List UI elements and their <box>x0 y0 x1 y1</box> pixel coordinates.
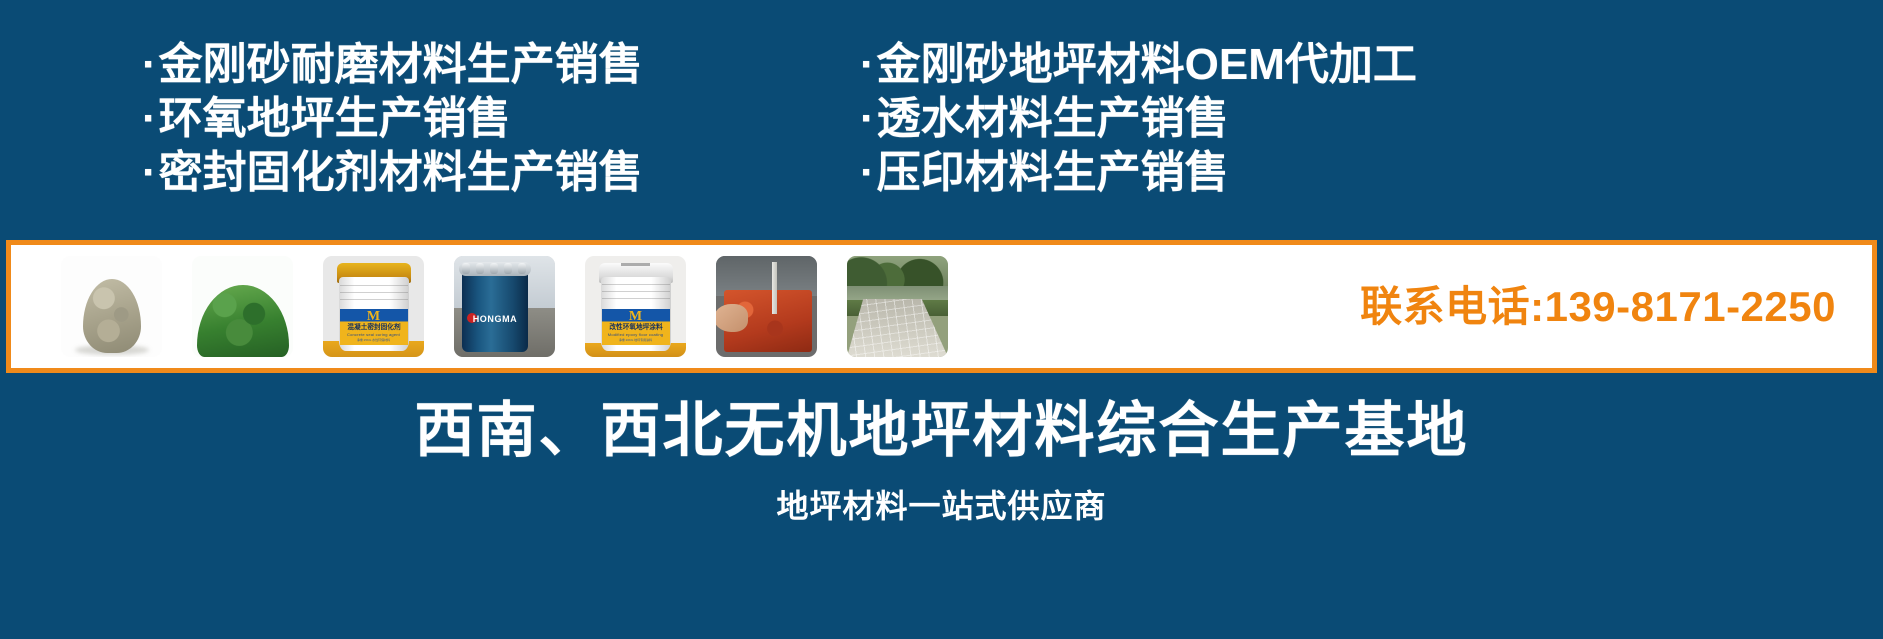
bucket-icon: M 混凝土密封固化剂 Concrete seal curing agent 净重… <box>339 263 409 351</box>
drum-clamp <box>476 263 484 274</box>
feature-item-right-3: · 压印材料生产销售 <box>860 146 1417 200</box>
product-thumb-hongma-blue-drum: HONGMA <box>454 256 555 357</box>
bucket-rib <box>602 284 670 285</box>
bottom-headline-block: 西南、西北无机地坪材料综合生产基地 地坪材料一站式供应商 <box>0 373 1883 639</box>
feature-item-left-2: · 环氧地坪生产销售 <box>142 92 842 146</box>
feature-item-right-1: · 金刚砂地坪材料OEM代加工 <box>860 38 1417 92</box>
bullet-icon: · <box>860 92 875 146</box>
bullet-icon: · <box>142 38 157 92</box>
feature-label: 密封固化剂材料生产销售 <box>159 146 643 200</box>
contact-phone-text: 联系电话:139-8171-2250 <box>1360 284 1836 330</box>
brand-mark-m: M <box>367 310 380 324</box>
bucket-label: M 改性环氧地坪涂料 Modified epoxy floor coating … <box>602 309 670 345</box>
bucket-icon: M 改性环氧地坪涂料 Modified epoxy floor coating … <box>601 263 671 351</box>
bucket-label-fine: 净重 20KG 地坪专用涂料 <box>602 338 670 342</box>
bullet-icon: · <box>860 38 875 92</box>
product-thumb-green-abrasive-powder <box>192 256 293 357</box>
feature-label: 透水材料生产销售 <box>877 92 1229 146</box>
feature-item-right-2: · 透水材料生产销售 <box>860 92 1417 146</box>
product-strip: M 混凝土密封固化剂 Concrete seal curing agent 净重… <box>6 240 1877 373</box>
product-thumb-sealer-bucket: M 混凝土密封固化剂 Concrete seal curing agent 净重… <box>323 256 424 357</box>
bullet-icon: · <box>142 92 157 146</box>
product-thumbnail-row: M 混凝土密封固化剂 Concrete seal curing agent 净重… <box>61 245 978 368</box>
feature-label: 环氧地坪生产销售 <box>159 92 511 146</box>
bucket-rib <box>340 299 408 300</box>
bucket-body: M 改性环氧地坪涂料 Modified epoxy floor coating … <box>601 277 671 351</box>
drum-clamp <box>518 263 526 274</box>
feature-label: 金刚砂耐磨材料生产销售 <box>159 38 643 92</box>
bucket-body: M 混凝土密封固化剂 Concrete seal curing agent 净重… <box>339 277 409 351</box>
bucket-label-en: Concrete seal curing agent <box>340 332 408 337</box>
grey-powder-pile-icon <box>83 279 141 353</box>
blue-drum-icon: HONGMA <box>462 270 528 352</box>
bullet-icon: · <box>860 146 875 200</box>
bucket-rib <box>602 298 670 299</box>
bucket-label-fine: 净重 25KG 水性环保材料 <box>340 338 408 342</box>
feature-label: 压印材料生产销售 <box>877 146 1229 200</box>
feature-item-left-1: · 金刚砂耐磨材料生产销售 <box>142 38 842 92</box>
bullet-icon: · <box>142 146 157 200</box>
drum-clamp <box>504 263 512 274</box>
applicator-tool-icon <box>772 262 777 314</box>
product-thumb-red-stamped-concrete <box>716 256 817 357</box>
main-headline: 西南、西北无机地坪材料综合生产基地 <box>415 395 1469 467</box>
brand-mark-m: M <box>629 310 642 324</box>
contact-phone[interactable]: 联系电话:139-8171-2250 <box>1360 284 1836 330</box>
green-powder-pile-icon <box>197 285 289 357</box>
bucket-label-cn: 改性环氧地坪涂料 <box>603 324 668 332</box>
bucket-rib <box>602 291 670 292</box>
product-thumb-grey-abrasive-powder <box>61 256 162 357</box>
feature-item-left-3: · 密封固化剂材料生产销售 <box>142 146 842 200</box>
feature-label: 金刚砂地坪材料OEM代加工 <box>877 38 1417 92</box>
feature-column-right: · 金刚砂地坪材料OEM代加工 · 透水材料生产销售 · 压印材料生产销售 <box>860 0 1417 200</box>
product-thumb-permeable-paver-walkway <box>847 256 948 357</box>
product-thumb-epoxy-coating-bucket: M 改性环氧地坪涂料 Modified epoxy floor coating … <box>585 256 686 357</box>
bucket-handle <box>621 263 651 266</box>
drum-clamp <box>490 263 498 274</box>
drum-clamp <box>462 263 470 274</box>
hongma-brand-text: HONGMA <box>462 314 528 324</box>
trees-background <box>847 256 948 290</box>
bucket-label-en: Modified epoxy floor coating <box>602 332 670 337</box>
bucket-rib <box>340 292 408 293</box>
hand-icon <box>716 304 748 332</box>
bucket-label-cn: 混凝土密封固化剂 <box>341 324 406 332</box>
feature-lists: · 金刚砂耐磨材料生产销售 · 环氧地坪生产销售 · 密封固化剂材料生产销售 ·… <box>0 0 1883 236</box>
bucket-rib <box>340 285 408 286</box>
sub-headline: 地坪材料一站式供应商 <box>776 487 1106 525</box>
bucket-label: M 混凝土密封固化剂 Concrete seal curing agent 净重… <box>340 309 408 345</box>
feature-column-left: · 金刚砂耐磨材料生产销售 · 环氧地坪生产销售 · 密封固化剂材料生产销售 <box>142 0 842 200</box>
advertising-banner: · 金刚砂耐磨材料生产销售 · 环氧地坪生产销售 · 密封固化剂材料生产销售 ·… <box>0 0 1883 639</box>
